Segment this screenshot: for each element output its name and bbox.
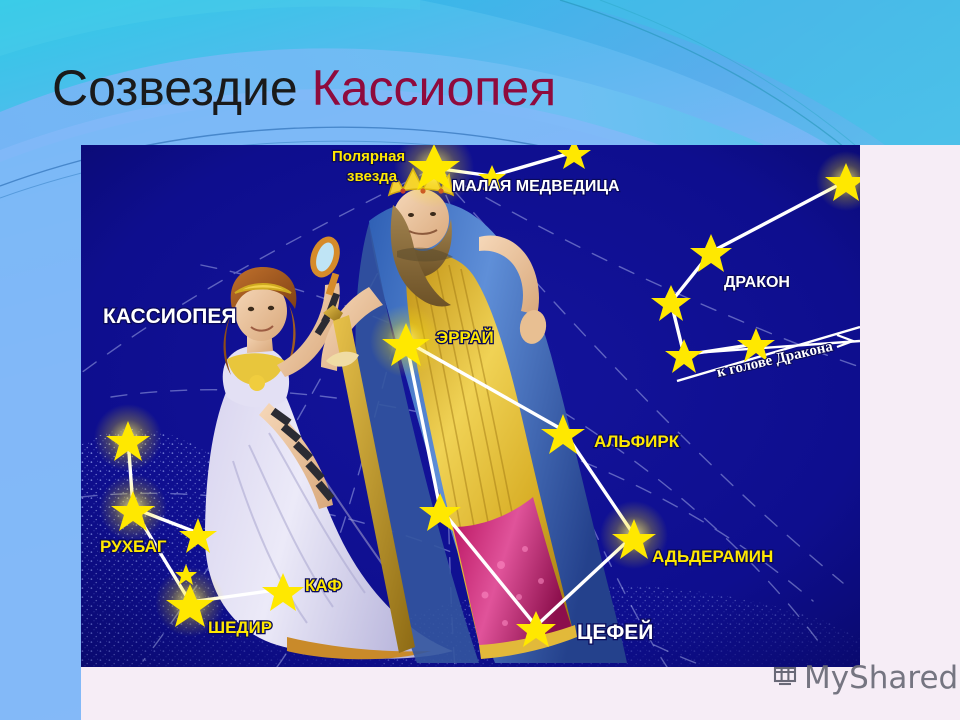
constellation-image: Полярная звезда МАЛАЯ МЕДВЕДИЦА ДРАКОН к… <box>81 145 860 667</box>
label-polaris-line1: Полярная <box>332 148 405 165</box>
photo-backdrop-right <box>858 145 960 720</box>
page-title: Созвездие Кассиопея <box>52 62 556 115</box>
grid-icon <box>772 660 798 696</box>
watermark-label: MyShared <box>804 660 958 696</box>
label-errai: ЭРРАЙ <box>436 328 494 347</box>
label-schedar: ШЕДИР <box>208 618 272 637</box>
label-cepheus: ЦЕФЕЙ <box>577 620 653 644</box>
myshared-watermark: MyShared <box>772 660 958 696</box>
label-alfirk: АЛЬФИРК <box>594 432 680 451</box>
page-title-accent: Кассиопея <box>312 60 557 116</box>
label-draco: ДРАКОН <box>724 274 790 291</box>
label-ruchbah: РУХБАГ <box>100 537 167 556</box>
label-caph: КАФ <box>305 576 342 595</box>
label-polaris-line2: звезда <box>347 168 398 185</box>
label-ursa-minor: МАЛАЯ МЕДВЕДИЦА <box>452 178 620 195</box>
label-alderamin: АДЬДЕРАМИН <box>652 547 773 566</box>
label-cassiopeia: КАССИОПЕЯ <box>103 305 236 328</box>
page-title-main: Созвездие <box>52 60 312 116</box>
